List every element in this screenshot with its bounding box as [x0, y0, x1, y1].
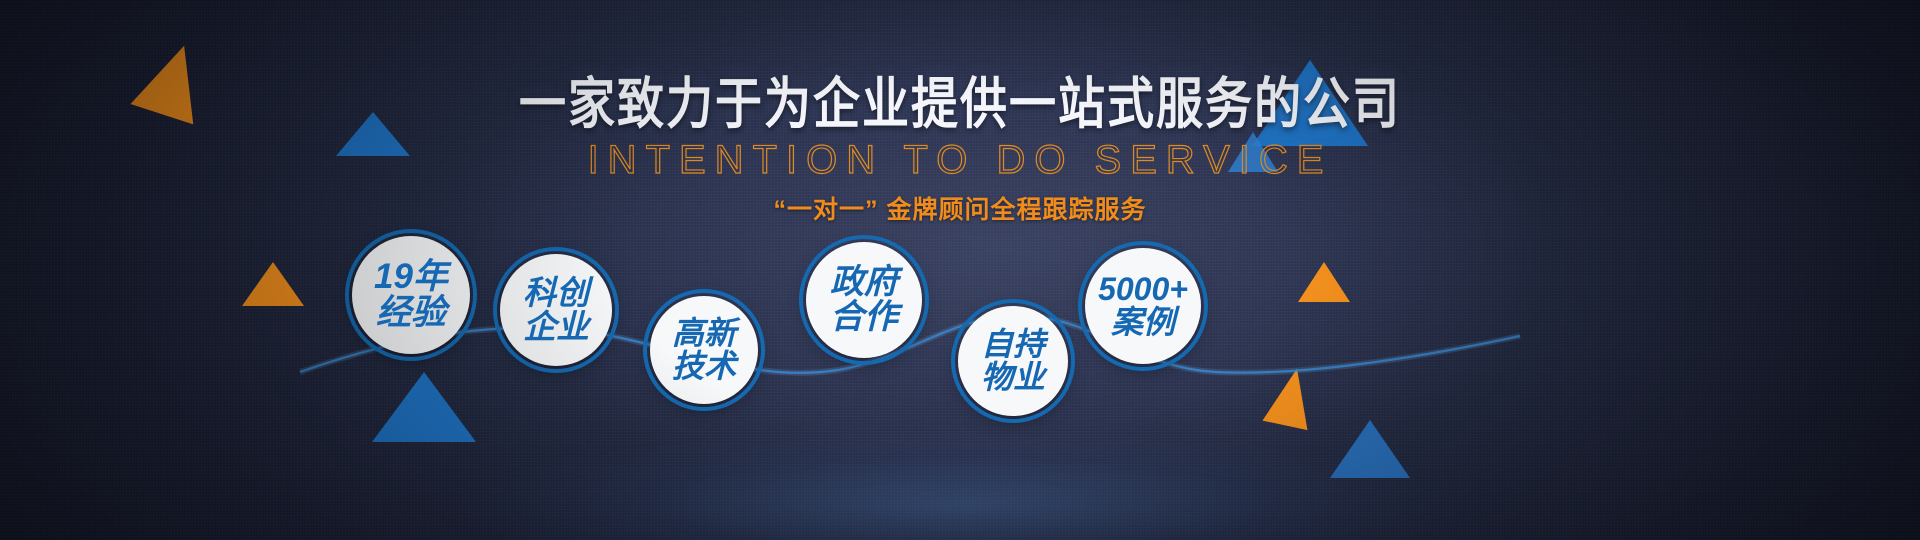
badge-label-line2: 案例 — [1098, 306, 1188, 339]
badge-label-line2: 合作 — [830, 300, 898, 335]
badge-label: 科创企业 — [523, 276, 589, 343]
badge-self-owned-property[interactable]: 自持物业 — [958, 306, 1068, 416]
page-title: 一家致力于为企业提供一站式服务的公司 — [0, 76, 1920, 131]
badge-label-line1: 科创 — [523, 276, 589, 310]
badge-label-line1: 自持 — [981, 328, 1045, 361]
badge-label: 自持物业 — [981, 328, 1045, 393]
badge-tech-startup[interactable]: 科创企业 — [500, 254, 612, 366]
badge-label-line2: 企业 — [523, 310, 589, 344]
badge-label-line2: 经验 — [374, 295, 448, 331]
badge-high-tech[interactable]: 高新技术 — [650, 296, 758, 404]
badge-label-line1: 高新 — [672, 317, 736, 350]
badge-label-line1: 政府 — [830, 265, 898, 300]
badge-gov-cooperation[interactable]: 政府合作 — [806, 242, 922, 358]
badge-label-line2: 物业 — [981, 361, 1045, 394]
badge-years-experience[interactable]: 19年经验 — [352, 236, 470, 354]
badge-cases-count[interactable]: 5000+案例 — [1085, 248, 1201, 364]
badge-label: 5000+案例 — [1098, 273, 1188, 338]
badge-label: 政府合作 — [830, 265, 898, 334]
badge-label-line1: 5000+ — [1098, 273, 1188, 306]
badge-label-line2: 技术 — [672, 350, 736, 383]
promo-banner: 一家致力于为企业提供一站式服务的公司 INTENTION TO DO SERVI… — [0, 0, 1920, 540]
badge-label: 高新技术 — [672, 317, 736, 382]
subtitle-chinese: “一对一” 金牌顾问全程跟踪服务 — [0, 198, 1920, 223]
subtitle-english: INTENTION TO DO SERVICE — [0, 140, 1920, 180]
badge-label-line1: 19年 — [374, 259, 448, 295]
badge-label: 19年经验 — [374, 259, 448, 330]
